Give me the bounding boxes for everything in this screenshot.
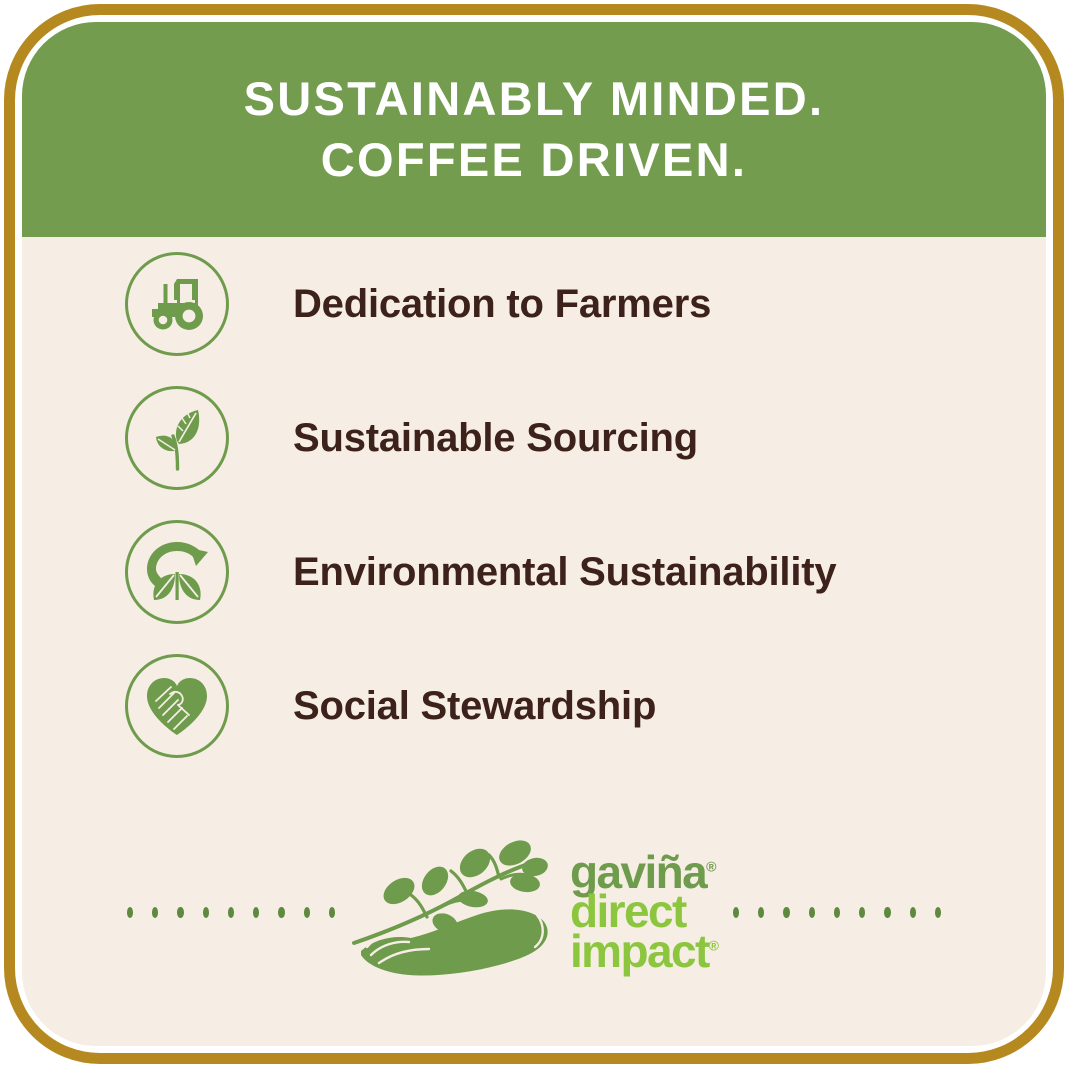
logo-wordmark: gaviña® direct impact® — [570, 853, 719, 972]
poster-footer: gaviña® direct impact® — [22, 812, 1046, 1012]
leaf-sprout-icon — [125, 386, 229, 490]
divider-dot — [859, 907, 865, 918]
divider-dot — [278, 907, 284, 918]
divider-dot — [253, 907, 259, 918]
gavina-direct-impact-logo: gaviña® direct impact® — [349, 835, 719, 990]
hand-holding-branch-icon — [349, 835, 564, 990]
divider-dot — [910, 907, 916, 918]
divider-dot — [733, 907, 739, 918]
divider-dot — [228, 907, 234, 918]
feature-row-social-stewardship: Social Stewardship — [22, 639, 1046, 773]
poster-card: SUSTAINABLY MINDED. COFFEE DRIVEN. — [22, 22, 1046, 1046]
header-title-line-2: COFFEE DRIVEN. — [321, 130, 748, 190]
header-title-line-1: SUSTAINABLY MINDED. — [244, 69, 825, 129]
divider-dot — [203, 907, 209, 918]
feature-list: Dedication to Farmers — [22, 237, 1046, 773]
divider-dot — [758, 907, 764, 918]
divider-dot — [152, 907, 158, 918]
divider-dot — [783, 907, 789, 918]
recycle-leaf-icon — [125, 520, 229, 624]
divider-dot — [329, 907, 335, 918]
divider-dot — [834, 907, 840, 918]
divider-dot — [177, 907, 183, 918]
divider-dot — [809, 907, 815, 918]
feature-label: Sustainable Sourcing — [293, 416, 698, 461]
feature-row-dedication-to-farmers: Dedication to Farmers — [22, 237, 1046, 371]
feature-label: Dedication to Farmers — [293, 282, 711, 327]
dotted-divider-left — [127, 907, 335, 918]
sustainability-poster: SUSTAINABLY MINDED. COFFEE DRIVEN. — [0, 0, 1068, 1068]
poster-header: SUSTAINABLY MINDED. COFFEE DRIVEN. — [22, 22, 1046, 237]
registered-mark: ® — [709, 937, 719, 953]
dotted-divider-right — [733, 907, 941, 918]
handshake-heart-icon — [125, 654, 229, 758]
divider-dot — [127, 907, 133, 918]
feature-label: Environmental Sustainability — [293, 550, 836, 595]
feature-label: Social Stewardship — [293, 684, 656, 729]
divider-dot — [884, 907, 890, 918]
feature-row-environmental-sustainability: Environmental Sustainability — [22, 505, 1046, 639]
tractor-icon — [125, 252, 229, 356]
feature-row-sustainable-sourcing: Sustainable Sourcing — [22, 371, 1046, 505]
divider-dot — [935, 907, 941, 918]
logo-word-impact: impact® — [570, 932, 719, 972]
registered-mark: ® — [706, 858, 716, 874]
divider-dot — [304, 907, 310, 918]
